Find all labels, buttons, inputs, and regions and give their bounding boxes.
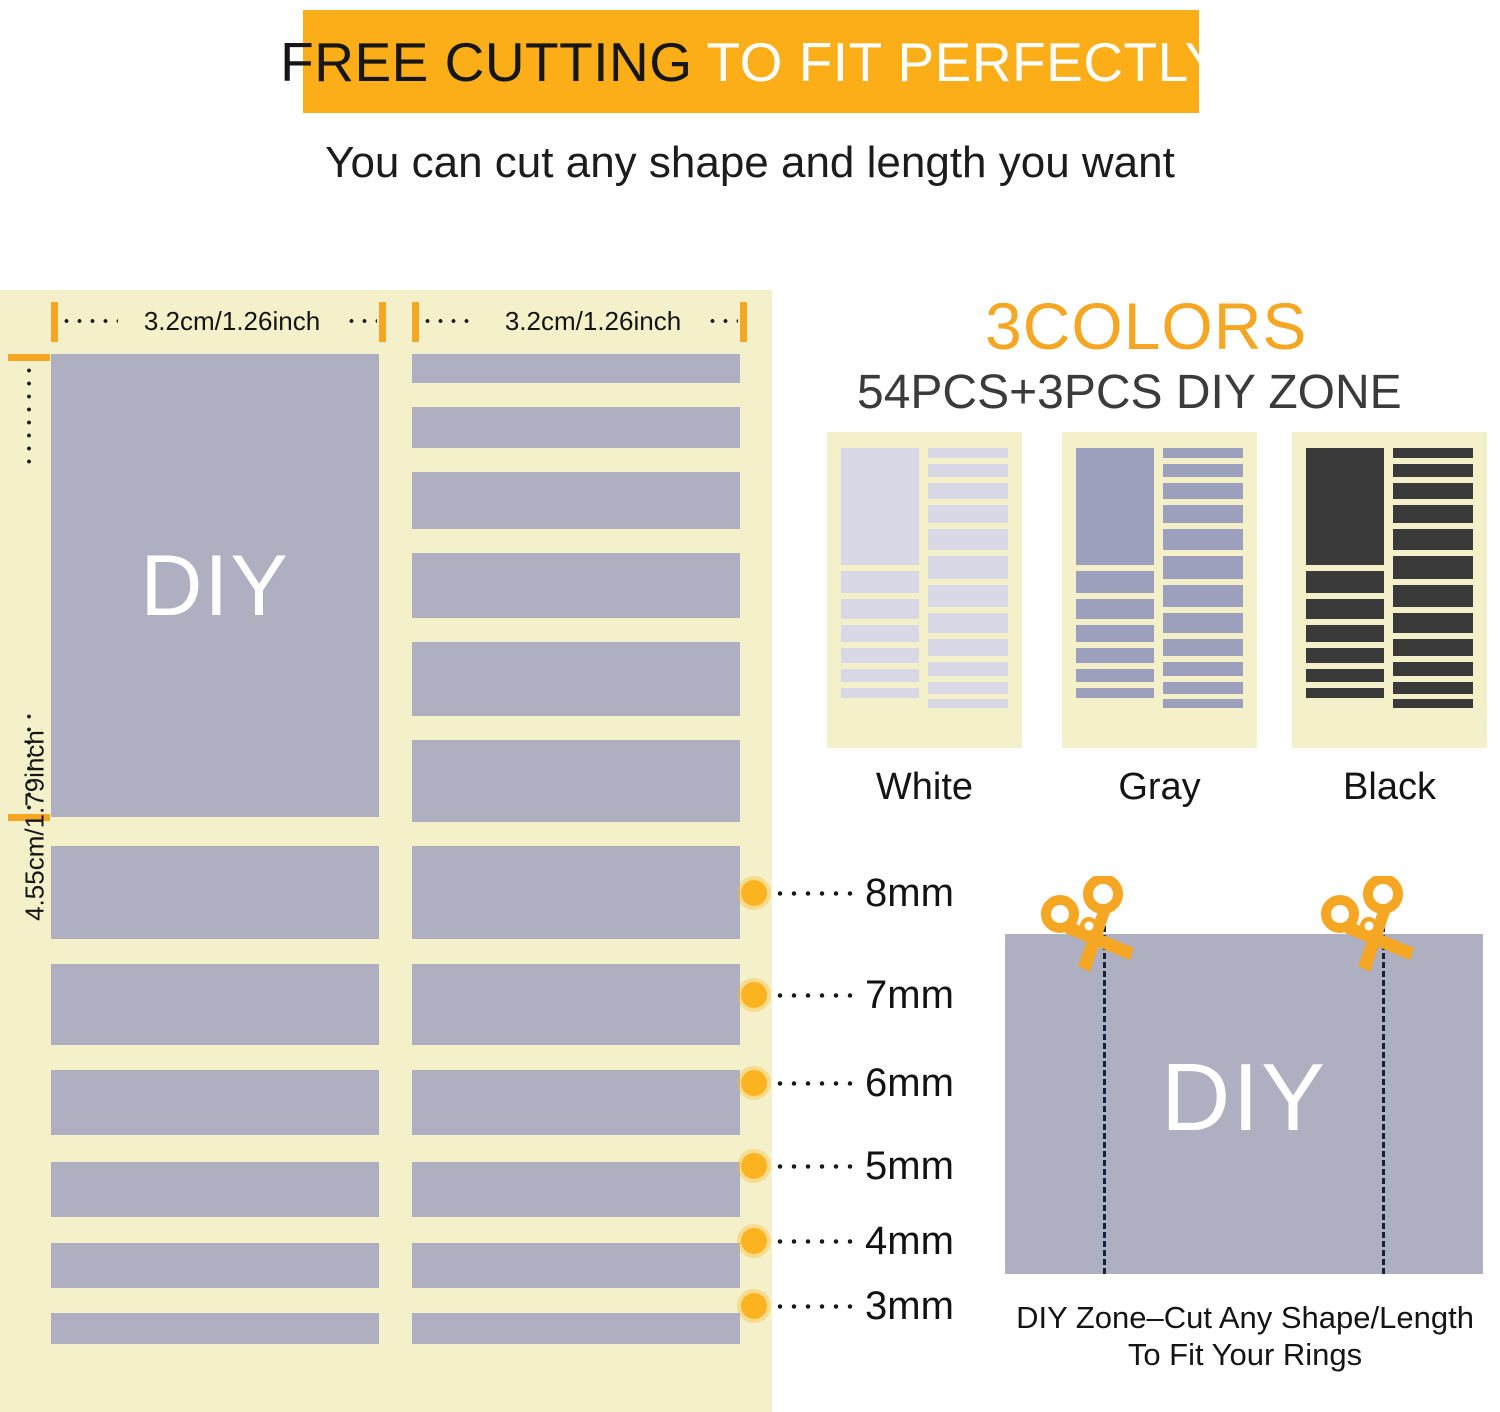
- strip-left-5mm[interactable]: [51, 1162, 379, 1217]
- strip-right-4mm[interactable]: [412, 1243, 740, 1288]
- callout-leader-line: [773, 1081, 859, 1086]
- swatch-strip: [841, 669, 919, 682]
- swatch-strip: [841, 648, 919, 663]
- strip-right-upper-2[interactable]: [412, 407, 740, 448]
- swatch-strip: [1163, 639, 1243, 656]
- callout-4mm: 4mm: [741, 1221, 954, 1261]
- swatch-sheet-white[interactable]: [827, 432, 1022, 748]
- swatch-strip: [928, 529, 1008, 550]
- swatch-diy-block: [1076, 448, 1154, 565]
- strip-right-7mm[interactable]: [412, 964, 740, 1045]
- swatch-strip: [1163, 613, 1243, 633]
- callout-dot-icon: [741, 1070, 767, 1096]
- swatch-strip: [1163, 529, 1243, 550]
- banner-title-strong: FREE CUTTING: [280, 30, 692, 94]
- swatch-strip: [1076, 688, 1154, 698]
- header-banner: FREE CUTTINGTO FIT PERFECTLY: [303, 10, 1199, 113]
- swatch-strip: [928, 662, 1008, 676]
- strip-right-upper-3[interactable]: [412, 472, 740, 529]
- dimension-tick-right-start: [412, 302, 419, 342]
- swatch-strip: [1393, 505, 1473, 523]
- swatch-strip: [1306, 625, 1384, 642]
- callout-7mm: 7mm: [741, 975, 954, 1015]
- swatch-strip: [841, 571, 919, 593]
- swatch-strip: [928, 505, 1008, 523]
- callout-6mm: 6mm: [741, 1063, 954, 1103]
- strip-right-upper-5[interactable]: [412, 642, 740, 716]
- dimension-tick-left-start: [51, 302, 58, 342]
- swatch-sheet-gray[interactable]: [1062, 432, 1257, 748]
- swatch-strip: [1306, 571, 1384, 593]
- callout-label: 4mm: [865, 1219, 954, 1264]
- dimension-label-right-width: 3.2cm/1.26inch: [479, 306, 707, 337]
- swatch-strip: [928, 585, 1008, 607]
- swatch-strip: [841, 599, 919, 619]
- swatch-strip: [1306, 688, 1384, 698]
- strip-right-6mm[interactable]: [412, 1070, 740, 1135]
- scissors-icon: [1038, 876, 1142, 986]
- colors-section-title: 3COLORS: [985, 288, 1307, 364]
- callout-label: 3mm: [865, 1284, 954, 1329]
- diy-block-label: DIY: [140, 543, 289, 629]
- swatch-strip: [1163, 505, 1243, 523]
- swatch-strip: [928, 448, 1008, 458]
- dimension-dotline-right-a: [421, 319, 469, 323]
- swatch-strip: [1306, 669, 1384, 682]
- dimension-dotline-left-b: [345, 319, 377, 323]
- swatch-label-black: Black: [1292, 766, 1487, 809]
- swatch-strip: [928, 556, 1008, 579]
- callout-label: 7mm: [865, 973, 954, 1018]
- strip-right-upper-1[interactable]: [412, 354, 740, 383]
- callout-leader-line: [773, 1304, 859, 1309]
- swatch-strip: [1393, 464, 1473, 477]
- callout-dot-icon: [741, 1153, 767, 1179]
- swatch-strip: [1393, 682, 1473, 694]
- callout-dot-icon: [741, 982, 767, 1008]
- strip-right-upper-6[interactable]: [412, 740, 740, 822]
- swatch-strip: [1163, 662, 1243, 676]
- strip-left-4mm[interactable]: [51, 1243, 379, 1288]
- callout-label: 8mm: [865, 871, 954, 916]
- swatch-strip: [1163, 556, 1243, 579]
- strip-right-5mm[interactable]: [412, 1162, 740, 1217]
- callout-dot-icon: [741, 1228, 767, 1254]
- swatch-strip: [928, 639, 1008, 656]
- swatch-strip: [1076, 648, 1154, 663]
- strip-left-3mm[interactable]: [51, 1313, 379, 1344]
- swatch-strip: [1393, 639, 1473, 656]
- swatch-strip: [928, 699, 1008, 708]
- swatch-label-white: White: [827, 766, 1022, 809]
- swatch-strip: [1393, 483, 1473, 499]
- swatch-diy-block: [1306, 448, 1384, 565]
- swatch-strip: [1393, 529, 1473, 550]
- swatch-strip: [1393, 585, 1473, 607]
- swatch-strip: [1076, 599, 1154, 619]
- dimension-tick-top: [8, 354, 50, 361]
- callout-leader-line: [773, 891, 859, 896]
- swatch-strip: [1163, 464, 1243, 477]
- swatch-strip: [1163, 682, 1243, 694]
- callout-8mm: 8mm: [741, 873, 954, 913]
- diy-zone-caption-line1: DIY Zone–Cut Any Shape/Length: [995, 1300, 1495, 1337]
- callout-label: 6mm: [865, 1061, 954, 1106]
- strip-right-8mm[interactable]: [412, 846, 740, 939]
- strip-left-6mm[interactable]: [51, 1070, 379, 1135]
- swatch-label-gray: Gray: [1062, 766, 1257, 809]
- banner-title-light: TO FIT PERFECTLY: [707, 30, 1222, 94]
- callout-leader-line: [773, 1164, 859, 1169]
- swatch-strip: [841, 688, 919, 698]
- swatch-strip: [1393, 556, 1473, 579]
- main-sticker-sheet: 3.2cm/1.26inch 3.2cm/1.26inch 4.55cm/1.7…: [0, 290, 772, 1412]
- dimension-label-left-width: 3.2cm/1.26inch: [118, 306, 346, 337]
- swatch-diy-block: [841, 448, 919, 565]
- dimension-dotline-left-a: [60, 319, 118, 323]
- swatch-strip: [1393, 662, 1473, 676]
- dimension-dotline-vert-a: [27, 364, 31, 464]
- dimension-label-height: 4.55cm/1.79inch: [20, 696, 51, 956]
- dimension-tick-right-end: [740, 302, 747, 342]
- dimension-dotline-right-b: [706, 319, 738, 323]
- diy-zone-caption: DIY Zone–Cut Any Shape/Length To Fit You…: [995, 1300, 1495, 1373]
- swatch-strip: [928, 682, 1008, 694]
- swatch-strip: [1306, 599, 1384, 619]
- callout-label: 5mm: [865, 1144, 954, 1189]
- header-subtitle: You can cut any shape and length you wan…: [0, 138, 1500, 188]
- callout-dot-icon: [741, 1293, 767, 1319]
- callout-leader-line: [773, 993, 859, 998]
- swatch-strip: [1306, 648, 1384, 663]
- strip-left-8mm[interactable]: [51, 846, 379, 939]
- swatch-strip: [1393, 613, 1473, 633]
- swatch-strip: [1076, 625, 1154, 642]
- swatch-strip: [1163, 483, 1243, 499]
- strip-left-7mm[interactable]: [51, 964, 379, 1045]
- swatch-strip: [928, 483, 1008, 499]
- callout-3mm: 3mm: [741, 1286, 954, 1326]
- diy-block-large[interactable]: DIY: [51, 354, 379, 817]
- swatch-sheet-black[interactable]: [1292, 432, 1487, 748]
- dimension-tick-left-end: [379, 302, 386, 342]
- colors-section-subtitle: 54PCS+3PCS DIY ZONE: [857, 365, 1402, 420]
- callout-leader-line: [773, 1239, 859, 1244]
- swatch-strip: [1163, 699, 1243, 708]
- diy-zone-caption-line2: To Fit Your Rings: [995, 1337, 1495, 1374]
- scissors-icon: [1318, 876, 1422, 986]
- swatch-strip: [1393, 448, 1473, 458]
- strip-right-3mm[interactable]: [412, 1313, 740, 1344]
- swatch-strip: [928, 464, 1008, 477]
- swatch-strip: [928, 613, 1008, 633]
- callout-5mm: 5mm: [741, 1146, 954, 1186]
- swatch-strip: [1163, 585, 1243, 607]
- swatch-strip: [1076, 669, 1154, 682]
- swatch-strip: [841, 625, 919, 642]
- strip-right-upper-4[interactable]: [412, 553, 740, 618]
- swatch-strip: [1393, 699, 1473, 708]
- callout-dot-icon: [741, 880, 767, 906]
- swatch-strip: [1163, 448, 1243, 458]
- swatch-strip: [1076, 571, 1154, 593]
- diy-zone-panel-label: DIY: [1161, 1050, 1327, 1146]
